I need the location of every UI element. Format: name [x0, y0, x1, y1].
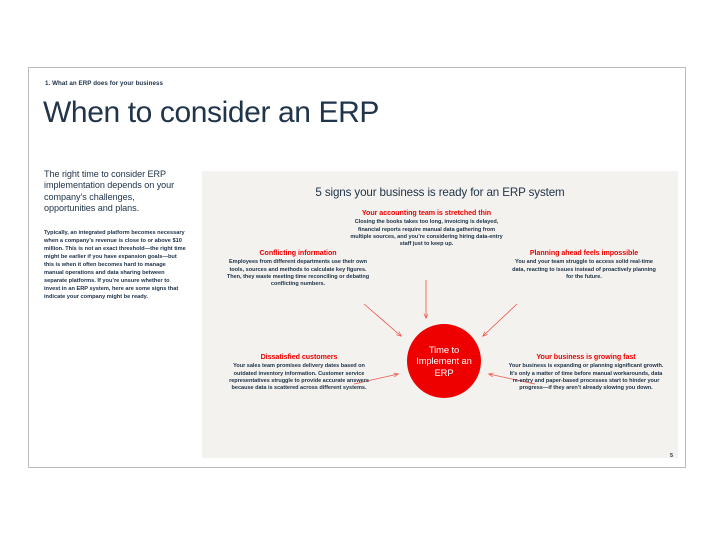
center-hub-circle: Time to Implement an ERP — [407, 324, 481, 398]
page-number: 5 — [670, 453, 673, 459]
callout-accounting-body: Closing the books takes too long, invoic… — [350, 219, 503, 249]
callout-planning: Planning ahead feels impossible You and … — [512, 249, 656, 281]
page-title: When to consider an ERP — [43, 96, 379, 130]
left-column: The right time to consider ERP implement… — [44, 169, 187, 301]
breadcrumb: 1. What an ERP does for your business — [45, 80, 163, 87]
callout-conflicting: Conflicting information Employees from d… — [224, 249, 372, 289]
callout-growing-body: Your business is expanding or planning s… — [507, 363, 665, 393]
center-hub-label: Time to Implement an ERP — [407, 344, 481, 378]
callout-accounting: Your accounting team is stretched thin C… — [350, 209, 503, 249]
callout-planning-title: Planning ahead feels impossible — [512, 249, 656, 258]
lede-paragraph: The right time to consider ERP implement… — [44, 169, 187, 215]
arrow-from-planning — [483, 304, 517, 336]
callout-planning-body: You and your team struggle to access sol… — [512, 259, 656, 281]
callout-growing-title: Your business is growing fast — [507, 353, 665, 362]
callout-dissatisfied-title: Dissatisfied customers — [224, 353, 374, 362]
diagram-panel: 5 signs your business is ready for an ER… — [202, 171, 678, 458]
callout-accounting-title: Your accounting team is stretched thin — [350, 209, 503, 218]
body-paragraph: Typically, an integrated platform become… — [44, 229, 187, 302]
callout-conflicting-body: Employees from different departments use… — [224, 259, 372, 289]
callout-growing: Your business is growing fast Your busin… — [507, 353, 665, 393]
slide-frame: 1. What an ERP does for your business Wh… — [28, 67, 686, 468]
arrow-from-conflicting — [364, 304, 401, 336]
diagram-title: 5 signs your business is ready for an ER… — [202, 186, 678, 199]
callout-conflicting-title: Conflicting information — [224, 249, 372, 258]
callout-dissatisfied-body: Your sales team promises delivery dates … — [224, 363, 374, 393]
callout-dissatisfied: Dissatisfied customers Your sales team p… — [224, 353, 374, 393]
